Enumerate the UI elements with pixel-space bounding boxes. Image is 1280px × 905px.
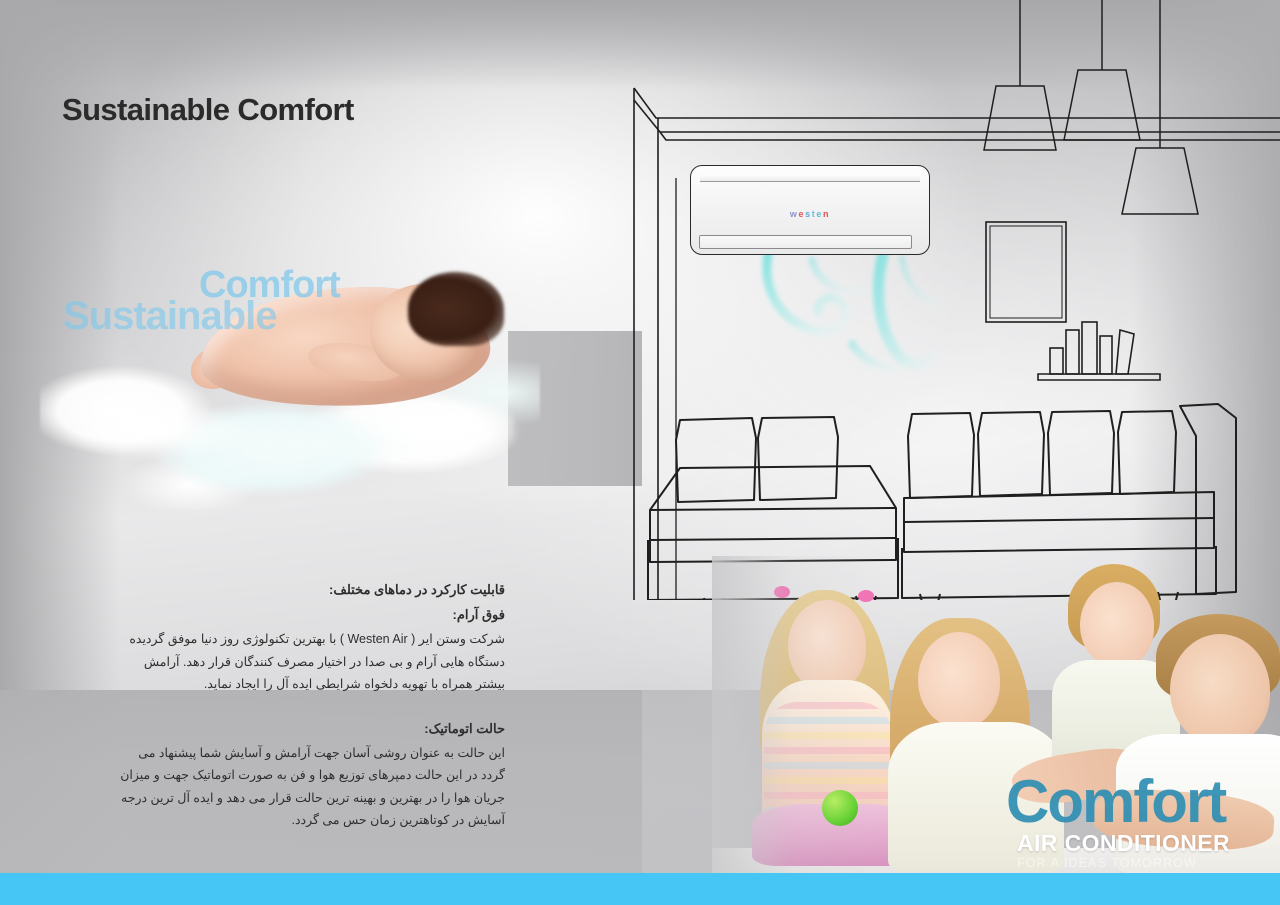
- father-head: [1170, 634, 1270, 746]
- ac-louver-vent: [699, 235, 912, 249]
- cloud-front: [44, 382, 514, 492]
- copy-heading-1: قابلیت کارکرد در دماهای مختلف:: [120, 578, 505, 601]
- ac-brand-logo: westen: [790, 209, 830, 219]
- girl-hair-bow-left: [774, 586, 790, 598]
- bottom-accent-bar: [0, 873, 1280, 905]
- girl-hair-bow-right: [858, 590, 874, 602]
- air-conditioner-unit: westen: [690, 165, 930, 255]
- copy-subheading-1: فوق آرام:: [120, 603, 505, 626]
- brand-lockup: Comfort AIR CONDITIONER FOR A IDEAS TOMO…: [1006, 772, 1246, 868]
- boy-head: [1080, 582, 1154, 668]
- ghost-word-sustainable: Sustainable: [63, 294, 277, 339]
- girl-head: [788, 600, 866, 692]
- body-copy-block: قابلیت کارکرد در دماهای مختلف: فوق آرام:…: [120, 578, 505, 837]
- copy-spacer: [120, 701, 505, 717]
- copy-paragraph-1: شرکت وستن ایر ( Westen Air ) با بهترین ت…: [120, 628, 505, 695]
- baby-hair: [408, 272, 504, 346]
- green-ball: [822, 790, 858, 826]
- ac-top-vent: [700, 174, 920, 182]
- brand-category: AIR CONDITIONER: [1017, 830, 1230, 857]
- brand-name: Comfort: [1006, 772, 1225, 832]
- page-title: Sustainable Comfort: [62, 92, 354, 128]
- poster-canvas: Sustainable Comfort: [0, 0, 1280, 905]
- brand-tagline: FOR A IDEAS TOMORROW: [1017, 856, 1197, 870]
- mother-head: [918, 632, 1000, 728]
- copy-subheading-2: حالت اتوماتیک:: [120, 717, 505, 740]
- airflow-swirl-graphic: [756, 248, 971, 388]
- copy-paragraph-2: این حالت به عنوان روشی آسان جهت آرامش و …: [120, 742, 505, 831]
